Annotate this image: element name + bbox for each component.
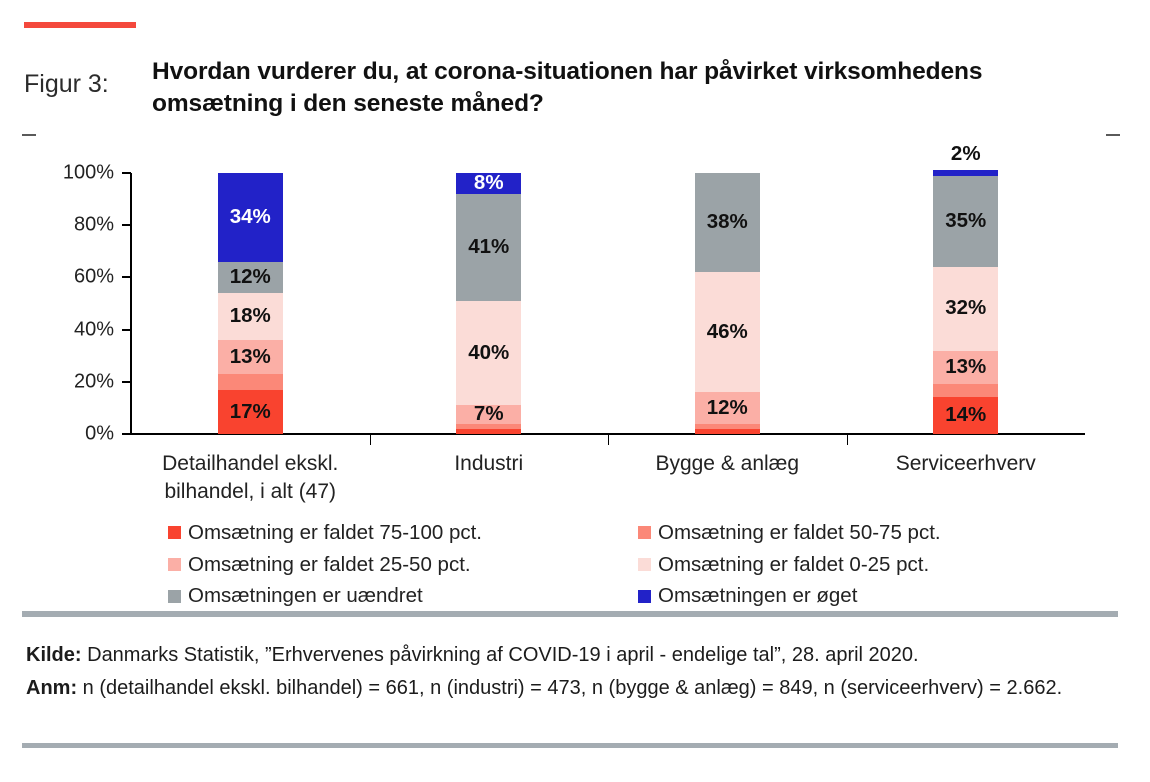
footer-source-text: Danmarks Statistik, ”Erhvervenes påvirkn… xyxy=(82,644,919,666)
bar-segment[interactable]: 18% xyxy=(218,293,283,340)
bar-segment[interactable]: 12% xyxy=(218,262,283,293)
bar-segment-value-label: 12% xyxy=(707,398,748,419)
stacked-bar[interactable]: 14%5%13%32%35%2% xyxy=(933,170,998,434)
legend-label: Omsætningen er øget xyxy=(658,581,857,611)
bar-segment[interactable] xyxy=(695,429,760,434)
bar-segment-value-label: 13% xyxy=(230,347,271,368)
stacked-bar-chart: 0%20%40%60%80%100% 17%6%13%18%12%34%7%40… xyxy=(0,0,1150,520)
bar-segment[interactable]: 41% xyxy=(456,194,521,301)
bar-segment-value-label: 17% xyxy=(230,402,271,423)
x-axis-category-divider xyxy=(847,435,848,445)
bar-segment[interactable]: 17% xyxy=(218,390,283,434)
bar-segment-value-label: 8% xyxy=(474,173,504,194)
bar-segment-value-label: 41% xyxy=(468,237,509,258)
legend-item[interactable]: Omsætning er faldet 50-75 pct. xyxy=(638,518,1108,548)
bar-segment[interactable] xyxy=(456,429,521,434)
footer-bottom-rule xyxy=(22,743,1118,748)
bar-segment[interactable] xyxy=(695,424,760,429)
stacked-bar[interactable]: 7%40%41%8% xyxy=(456,173,521,434)
footer-source: Kilde: Danmarks Statistik, ”Erhvervenes … xyxy=(26,640,1106,671)
footer-note: Anm: n (detailhandel ekskl. bilhandel) =… xyxy=(26,673,1106,704)
legend-item[interactable]: Omsætningen er uændret xyxy=(168,581,638,611)
bar-segment[interactable]: 8% xyxy=(456,173,521,194)
y-axis-tick-label: 60% xyxy=(74,266,114,289)
legend-swatch-icon xyxy=(638,558,651,571)
footer-note-prefix: Anm: xyxy=(26,677,77,699)
bar-segment-value-label: 46% xyxy=(707,322,748,343)
y-axis-tick-label: 20% xyxy=(74,370,114,393)
bar-segment-value-label: 2% xyxy=(951,144,981,165)
x-axis-category-divider xyxy=(608,435,609,445)
legend-label: Omsætningen er uændret xyxy=(188,581,423,611)
bar-segment-value-label: 18% xyxy=(230,306,271,327)
y-axis-tick-label: 0% xyxy=(85,423,114,446)
plot-area: 17%6%13%18%12%34%7%40%41%8%12%46%38%14%5… xyxy=(131,173,1085,434)
bar-segment[interactable]: 6% xyxy=(218,374,283,390)
stacked-bar[interactable]: 17%6%13%18%12%34% xyxy=(218,173,283,434)
bar-segment[interactable]: 12% xyxy=(695,392,760,423)
bar-segment-value-label: 12% xyxy=(230,267,271,288)
bar-segment[interactable]: 14% xyxy=(933,397,998,434)
bar-segment-value-label: 13% xyxy=(945,357,986,378)
y-axis-tick-label: 100% xyxy=(63,162,114,185)
bar-segment-value-label: 34% xyxy=(230,207,271,228)
x-axis-category-label: Serviceerhverv xyxy=(847,450,1086,478)
bar-segment[interactable]: 7% xyxy=(456,405,521,423)
bar-segment[interactable]: 46% xyxy=(695,272,760,392)
bar-segment[interactable]: 34% xyxy=(218,173,283,262)
legend-item[interactable]: Omsætning er faldet 25-50 pct. xyxy=(168,550,638,580)
chart-legend: Omsætning er faldet 75-100 pct.Omsætning… xyxy=(168,518,1008,611)
legend-label: Omsætning er faldet 75-100 pct. xyxy=(188,518,482,548)
bar-segment-value-label: 14% xyxy=(945,405,986,426)
legend-swatch-icon xyxy=(168,526,181,539)
footer-source-prefix: Kilde: xyxy=(26,644,82,666)
y-axis-tick-label: 80% xyxy=(74,214,114,237)
bar-segment[interactable]: 40% xyxy=(456,301,521,405)
bar-segment[interactable]: 38% xyxy=(695,173,760,272)
bar-segment-value-label: 38% xyxy=(707,212,748,233)
figure-footer: Kilde: Danmarks Statistik, ”Erhvervenes … xyxy=(26,640,1106,706)
legend-item[interactable]: Omsætning er faldet 75-100 pct. xyxy=(168,518,638,548)
legend-swatch-icon xyxy=(168,590,181,603)
bar-segment[interactable]: 32% xyxy=(933,267,998,351)
legend-label: Omsætning er faldet 25-50 pct. xyxy=(188,550,471,580)
footer-top-rule xyxy=(22,611,1118,617)
bar-segment[interactable]: 13% xyxy=(933,351,998,385)
bar-segment[interactable]: 35% xyxy=(933,176,998,267)
bar-segment-value-label: 32% xyxy=(945,298,986,319)
bar-segment-value-label: 40% xyxy=(468,343,509,364)
bar-segment[interactable]: 13% xyxy=(218,340,283,374)
x-axis-category-label: Bygge & anlæg xyxy=(608,450,847,478)
y-axis-tick-label: 40% xyxy=(74,318,114,341)
legend-item[interactable]: Omsætningen er øget xyxy=(638,581,1108,611)
legend-label: Omsætning er faldet 0-25 pct. xyxy=(658,550,929,580)
legend-swatch-icon xyxy=(638,590,651,603)
bar-segment[interactable]: 5% xyxy=(933,384,998,397)
bar-segment-value-label: 35% xyxy=(945,211,986,232)
legend-label: Omsætning er faldet 50-75 pct. xyxy=(658,518,941,548)
x-axis-category-label: Detailhandel ekskl. bilhandel, i alt (47… xyxy=(131,450,370,507)
x-axis-category-divider xyxy=(370,435,371,445)
bar-segment-value-label: 7% xyxy=(474,404,504,425)
legend-swatch-icon xyxy=(638,526,651,539)
stacked-bar[interactable]: 12%46%38% xyxy=(695,173,760,434)
legend-swatch-icon xyxy=(168,558,181,571)
legend-item[interactable]: Omsætning er faldet 0-25 pct. xyxy=(638,550,1108,580)
x-axis-category-label: Industri xyxy=(370,450,609,478)
footer-note-text: n (detailhandel ekskl. bilhandel) = 661,… xyxy=(77,677,1062,699)
bar-segment[interactable]: 2% xyxy=(933,170,998,175)
